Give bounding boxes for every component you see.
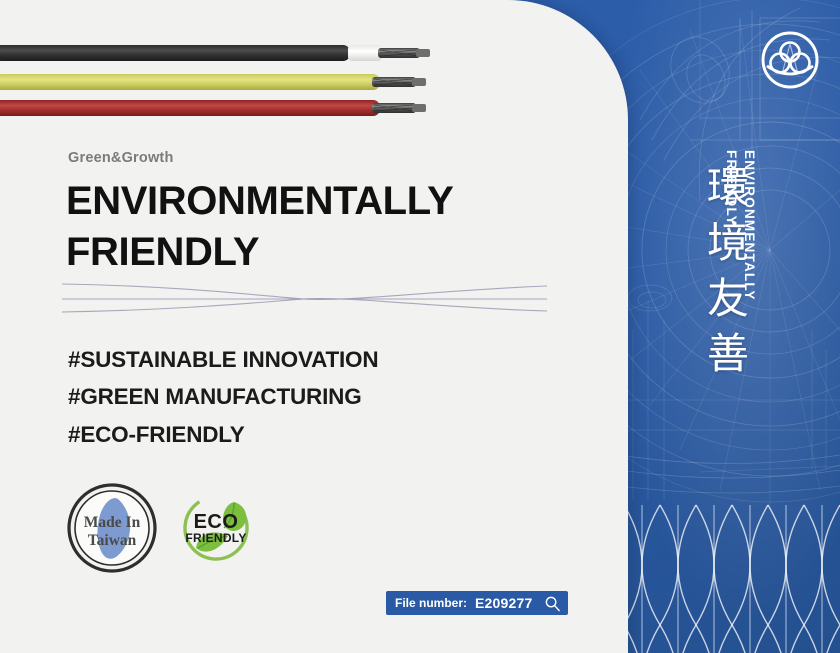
poster-root: Green&Growth ENVIRONMENTALLY FRIENDLY #S…	[0, 0, 840, 653]
eco-line-2: FRIENDLY	[185, 531, 246, 545]
file-number-label: File number:	[395, 596, 467, 610]
cable-black	[0, 45, 430, 61]
certification-badges: Made In Taiwan ECO FRIENDLY	[66, 482, 256, 574]
made-in-taiwan-badge-icon: Made In Taiwan	[66, 482, 158, 574]
file-number-badge[interactable]: File number: E209277	[386, 591, 568, 615]
hashtag-item-2: #GREEN MANUFACTURING	[68, 378, 378, 415]
vertical-english-title: ENVIRONMENTALLY FRIENDLY	[722, 150, 758, 350]
eyebrow-label: Green&Growth	[68, 150, 174, 166]
search-icon[interactable]	[544, 595, 561, 612]
cable-product-image	[0, 30, 520, 120]
page-title: ENVIRONMENTALLY FRIENDLY	[66, 176, 453, 278]
cable-red	[0, 100, 426, 116]
crossing-lines-divider	[62, 278, 547, 320]
vertical-english-line-1: ENVIRONMENTALLY	[740, 150, 758, 350]
file-number-value: E209277	[475, 595, 532, 611]
headline-line-1: ENVIRONMENTALLY	[66, 176, 453, 227]
hashtag-item-3: #ECO-FRIENDLY	[68, 416, 378, 453]
headline-line-2: FRIENDLY	[66, 227, 453, 278]
vertical-english-line-2: FRIENDLY	[722, 150, 740, 350]
white-content-card: Green&Growth ENVIRONMENTALLY FRIENDLY #S…	[0, 0, 628, 653]
hashtag-item-1: #SUSTAINABLE INNOVATION	[68, 341, 378, 378]
brand-circle-logo-icon	[760, 30, 820, 90]
mit-line-2: Taiwan	[88, 532, 137, 549]
eco-friendly-badge-icon: ECO FRIENDLY	[176, 488, 256, 568]
eco-line-1: ECO	[194, 511, 239, 533]
cable-yellow	[0, 74, 426, 90]
mit-line-1: Made In	[84, 514, 141, 531]
hashtag-list: #SUSTAINABLE INNOVATION #GREEN MANUFACTU…	[68, 341, 378, 453]
